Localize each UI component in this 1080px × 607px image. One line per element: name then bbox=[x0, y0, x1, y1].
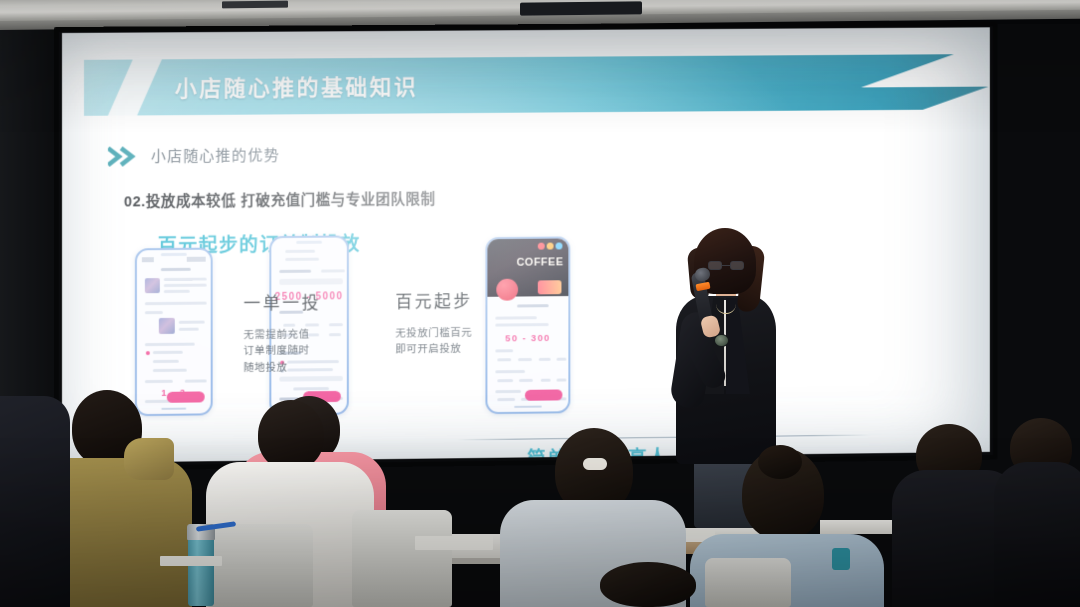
presentation-slide: 小店随心推的基础知识 小店随心推的优势 02.投放成本较低 打破充值门槛与专业团… bbox=[62, 27, 990, 463]
phone-text-line bbox=[179, 321, 205, 324]
phone-status-bar bbox=[142, 257, 206, 263]
audience-head bbox=[600, 562, 696, 607]
chair-center bbox=[352, 510, 452, 607]
phone-video-thumb bbox=[145, 278, 160, 293]
audience-body bbox=[994, 462, 1080, 607]
phone-text-line bbox=[145, 380, 173, 383]
phone-field-label bbox=[495, 349, 513, 352]
phone-text-line bbox=[285, 250, 315, 253]
room-wall-left-panel bbox=[0, 26, 60, 426]
phone-text-line bbox=[145, 343, 195, 347]
audience-hair-bun bbox=[758, 445, 802, 479]
phone-video-thumb bbox=[159, 318, 175, 334]
phone-option-label bbox=[153, 351, 183, 354]
phone-text-line bbox=[495, 316, 536, 319]
thermos-group bbox=[188, 536, 238, 606]
phone-app-title bbox=[161, 268, 191, 271]
phone-chip bbox=[497, 358, 511, 361]
phone-field-value bbox=[321, 269, 345, 272]
phone-chip bbox=[329, 323, 343, 326]
phone-text-line bbox=[179, 328, 199, 331]
phone-option-label bbox=[153, 369, 187, 372]
slide-numbered-heading: 02.投放成本较低 打破充值门槛与专业团队限制 bbox=[124, 188, 436, 212]
projection-screen: 小店随心推的基础知识 小店随心推的优势 02.投放成本较低 打破充值门槛与专业团… bbox=[62, 27, 990, 463]
slide-title: 小店随心推的基础知识 bbox=[175, 70, 418, 104]
phone-text-line bbox=[145, 302, 207, 306]
audience-body bbox=[0, 396, 70, 607]
presenter-glasses-icon bbox=[708, 261, 744, 270]
phone-chip bbox=[557, 358, 567, 361]
phone-app-title bbox=[517, 304, 549, 307]
phone-chip bbox=[519, 379, 533, 382]
phone-text-line bbox=[293, 387, 329, 390]
phone-field-label bbox=[495, 390, 521, 393]
phone-video-icons bbox=[538, 242, 563, 249]
phone-promo-tag bbox=[538, 280, 562, 294]
phone-text-line bbox=[285, 258, 319, 261]
caption-desc: 无投放门槛百元 即可开启投放 bbox=[395, 325, 472, 358]
hair-tie bbox=[583, 458, 607, 470]
phone-submit-button bbox=[525, 389, 562, 400]
caption-group-2: 百元起步 无投放门槛百元 即可开启投放 bbox=[395, 287, 472, 358]
phone-text-line bbox=[164, 278, 207, 281]
phone-submit-button bbox=[167, 391, 205, 402]
audience-lanyard-badge bbox=[832, 548, 850, 570]
phone-mockup-coffee-promo: COFFEE 50 - 300 bbox=[485, 236, 570, 414]
phone-notch bbox=[296, 241, 322, 244]
phone-chip bbox=[541, 379, 551, 382]
phone-text-line bbox=[145, 311, 163, 314]
phone-option-label bbox=[153, 360, 179, 363]
thermos-body bbox=[188, 530, 214, 606]
paper-sheet bbox=[160, 556, 222, 566]
phone-promo-badge bbox=[496, 279, 518, 301]
caption-desc: 无需提前充值 订单制度随时 随地投放 bbox=[244, 326, 322, 375]
presenter-wristwatch bbox=[714, 334, 729, 347]
phone-field-label bbox=[495, 370, 525, 373]
audience-arm bbox=[124, 438, 174, 480]
slide-subheading: 小店随心推的优势 bbox=[151, 144, 280, 166]
audience-head bbox=[258, 400, 324, 470]
phone-text-line bbox=[495, 323, 548, 327]
chair-right bbox=[705, 558, 791, 607]
phone-text-line bbox=[185, 379, 207, 382]
phone-input-field bbox=[279, 376, 343, 382]
phone-price-value: 50 - 300 bbox=[487, 333, 568, 345]
phone-notch bbox=[161, 253, 187, 256]
phone-input-field bbox=[279, 278, 343, 285]
projection-screen-surface: 小店随心推的基础知识 小店随心推的优势 02.投放成本较低 打破充值门槛与专业团… bbox=[62, 27, 990, 463]
photo-scene: 小店随心推的基础知识 小店随心推的优势 02.投放成本较低 打破充值门槛与专业团… bbox=[0, 0, 1080, 607]
double-chevron-right-icon bbox=[108, 146, 142, 166]
phone-radio-selected bbox=[146, 351, 150, 355]
phone-field-label bbox=[279, 270, 311, 273]
caption-group-1: 一单一投 无需提前充值 订单制度随时 随地投放 bbox=[244, 289, 322, 376]
ceiling-vent-small-icon bbox=[222, 1, 288, 9]
slide-subheading-row: 小店随心推的优势 bbox=[108, 144, 280, 166]
phone-text-line bbox=[164, 290, 190, 293]
paper-sheet bbox=[415, 536, 493, 550]
phone-chip bbox=[539, 358, 551, 361]
ceiling-vent-icon bbox=[520, 1, 642, 15]
phone-chip bbox=[329, 333, 341, 336]
phone-video-label: COFFEE bbox=[516, 256, 563, 268]
caption-title: 百元起步 bbox=[395, 287, 472, 313]
phone-chip bbox=[497, 398, 515, 401]
caption-title: 一单一投 bbox=[244, 289, 322, 315]
phone-chip bbox=[557, 378, 567, 381]
phone-text-line bbox=[164, 284, 207, 287]
phone-mockup-order-detail: 1 - 3 bbox=[135, 248, 213, 417]
phone-chip bbox=[497, 379, 513, 382]
phone-chip bbox=[518, 358, 532, 361]
